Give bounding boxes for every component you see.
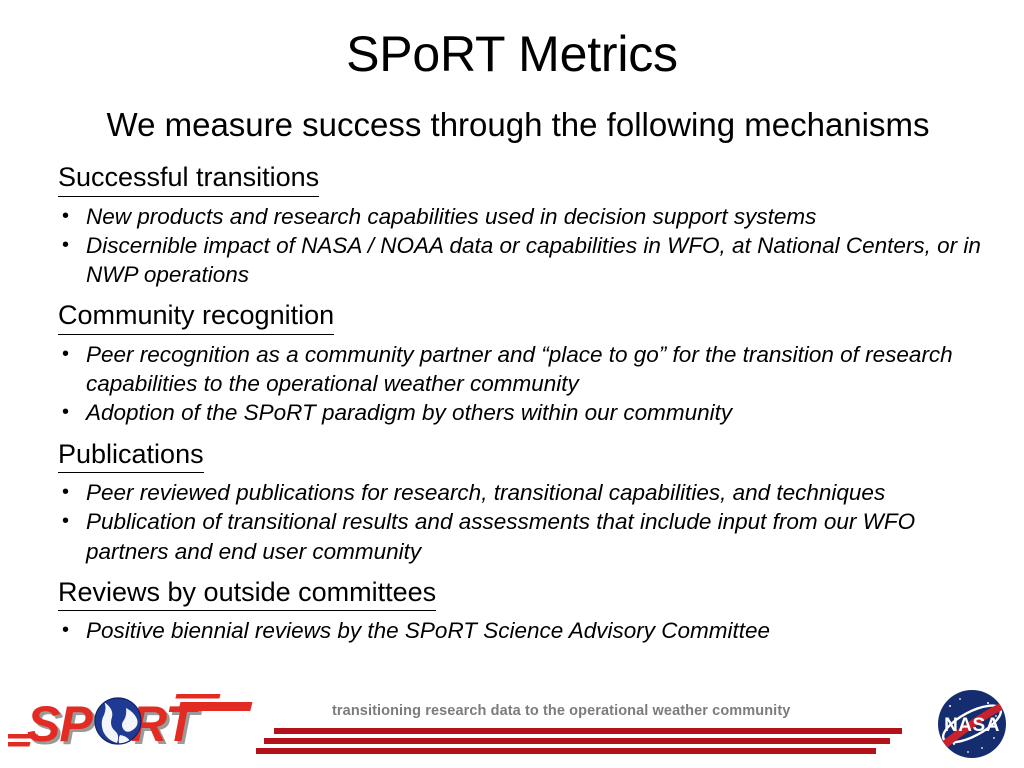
svg-text:SP: SP	[27, 696, 93, 752]
section-reviews-by-outside-committees: Reviews by outside committees • Positive…	[58, 575, 993, 646]
section-successful-transitions: Successful transitions • New products an…	[58, 160, 993, 289]
bullet-icon: •	[62, 478, 69, 506]
list-item-text: Adoption of the SPoRT paradigm by others…	[86, 400, 732, 425]
bullet-icon: •	[62, 398, 69, 426]
list-item: • Discernible impact of NASA / NOAA data…	[58, 231, 993, 290]
accent-bar-2	[264, 738, 890, 744]
bullet-list: • New products and research capabilities…	[58, 202, 993, 290]
list-item: • Adoption of the SPoRT paradigm by othe…	[58, 398, 993, 427]
list-item-text: Positive biennial reviews by the SPoRT S…	[86, 618, 770, 643]
list-item-text: Peer reviewed publications for research,…	[86, 480, 885, 505]
slide-footer: SP RT SP RT transition	[0, 684, 1024, 768]
list-item-text: New products and research capabilities u…	[86, 204, 816, 229]
bullet-icon: •	[62, 340, 69, 368]
list-item-text: Discernible impact of NASA / NOAA data o…	[86, 233, 981, 287]
bullet-icon: •	[62, 231, 69, 259]
section-heading: Reviews by outside committees	[58, 575, 436, 612]
svg-text:NASA: NASA	[944, 715, 1000, 736]
bullet-list: • Peer reviewed publications for researc…	[58, 478, 993, 566]
list-item: • New products and research capabilities…	[58, 202, 993, 231]
bullet-icon: •	[62, 507, 69, 535]
sport-logo: SP RT SP RT	[8, 688, 258, 760]
footer-tagline: transitioning research data to the opera…	[332, 703, 790, 719]
bullet-list: • Peer recognition as a community partne…	[58, 340, 993, 428]
list-item: • Positive biennial reviews by the SPoRT…	[58, 616, 993, 645]
nasa-logo: NASA	[930, 686, 1014, 764]
slide-subtitle: We measure success through the following…	[58, 105, 978, 145]
list-item: • Peer reviewed publications for researc…	[58, 478, 993, 507]
section-publications: Publications • Peer reviewed publication…	[58, 437, 993, 566]
section-heading: Publications	[58, 437, 204, 474]
bullet-list: • Positive biennial reviews by the SPoRT…	[58, 616, 993, 645]
list-item-text: Publication of transitional results and …	[86, 509, 915, 563]
section-heading: Successful transitions	[58, 160, 319, 197]
slide-canvas: SPoRT Metrics We measure success through…	[0, 0, 1024, 768]
accent-bar-3	[256, 748, 876, 754]
content-body: Successful transitions • New products an…	[58, 160, 993, 655]
section-community-recognition: Community recognition • Peer recognition…	[58, 298, 993, 427]
list-item: • Peer recognition as a community partne…	[58, 340, 993, 399]
bullet-icon: •	[62, 616, 69, 644]
list-item-text: Peer recognition as a community partner …	[86, 342, 953, 396]
accent-bar-1	[274, 728, 902, 734]
page-title: SPoRT Metrics	[0, 26, 1024, 82]
list-item: • Publication of transitional results an…	[58, 507, 993, 566]
bullet-icon: •	[62, 202, 69, 230]
section-heading: Community recognition	[58, 298, 334, 335]
tagline-block: transitioning research data to the opera…	[256, 692, 916, 762]
